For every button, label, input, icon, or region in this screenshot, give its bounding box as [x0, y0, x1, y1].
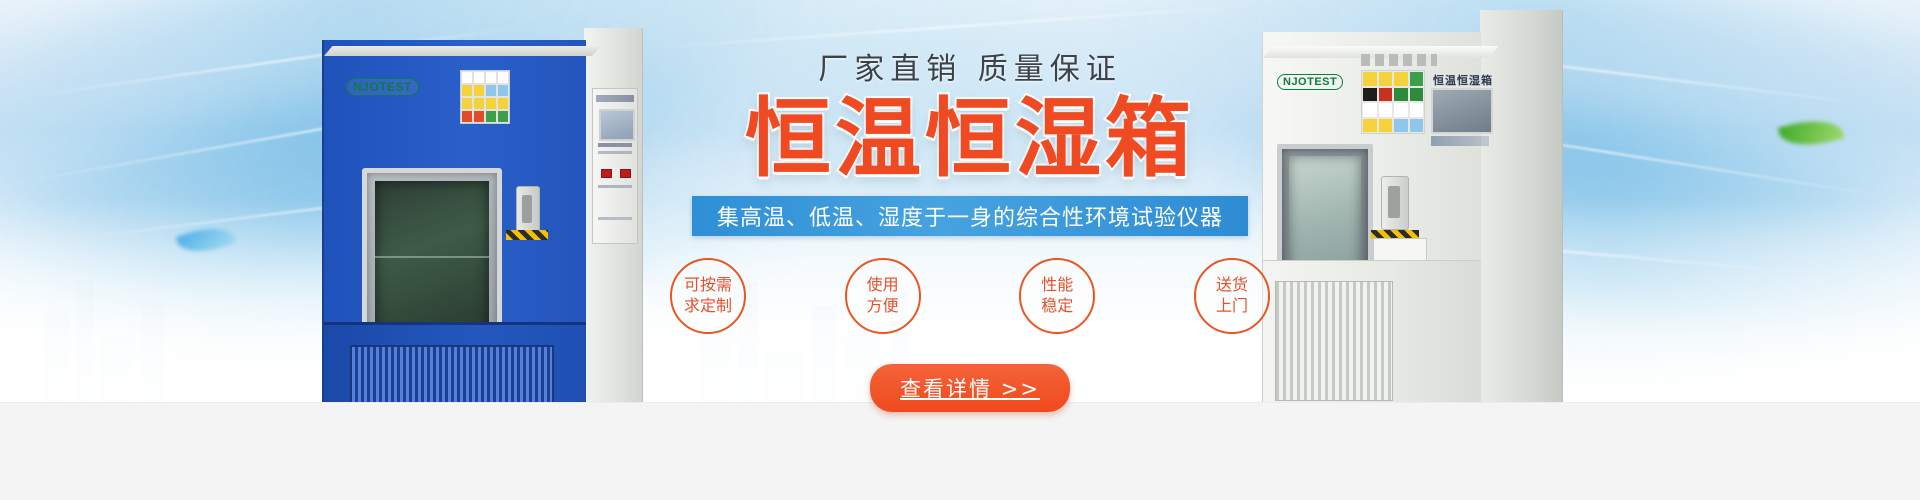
banner-subtitle-bar: 集高温、低温、湿度于一身的综合性环境试验仪器 — [692, 196, 1248, 236]
feature-badge-delivery[interactable]: 送货 上门 — [1194, 258, 1270, 334]
feature-badge-line2: 稳定 — [1041, 296, 1073, 316]
panel-company-text — [1431, 136, 1489, 146]
cta-container: 查看详情 >> — [660, 364, 1280, 412]
feature-badge-line1: 送货 — [1216, 275, 1248, 295]
panel-bar — [598, 151, 632, 154]
feature-badge-stable[interactable]: 性能 稳定 — [1019, 258, 1095, 334]
door-viewing-glass — [375, 181, 489, 345]
control-panel-label-right: 恒温恒湿箱 — [1433, 72, 1493, 88]
top-vents — [1361, 54, 1437, 66]
bottom-grey-strip — [0, 402, 1920, 500]
feature-badge-line1: 使用 — [867, 275, 899, 295]
panel-bar — [598, 217, 632, 220]
promo-banner: NJOTEST — [0, 0, 1920, 500]
control-panel-label-left — [596, 95, 634, 102]
hazard-stripe — [506, 230, 548, 240]
feature-badge-line1: 性能 — [1041, 275, 1073, 295]
feature-badge-line1: 可按需 — [684, 275, 732, 295]
feature-badge-list: 可按需 求定制 使用 方便 性能 稳定 送货 上门 — [670, 258, 1270, 334]
door-handle-right — [1381, 176, 1409, 230]
banner-tagline: 厂家直销 质量保证 — [660, 44, 1280, 88]
feature-badge-line2: 求定制 — [684, 296, 732, 316]
banner-headline: 恒温恒湿箱 — [660, 90, 1280, 190]
control-panel-left — [592, 88, 638, 244]
brand-logo-left: NJOTEST — [346, 78, 419, 96]
panel-bar — [598, 143, 632, 147]
feature-badge-easy-use[interactable]: 使用 方便 — [845, 258, 921, 334]
panel-bar — [598, 185, 632, 188]
feature-badge-custom[interactable]: 可按需 求定制 — [670, 258, 746, 334]
view-details-button[interactable]: 查看详情 >> — [870, 364, 1070, 412]
control-screen-left — [599, 109, 635, 141]
warning-label-right — [1361, 70, 1425, 134]
banner-copy-block: 厂家直销 质量保证 恒温恒湿箱 集高温、低温、湿度于一身的综合性环境试验仪器 可… — [660, 44, 1280, 412]
indicator-led — [620, 169, 631, 178]
warning-label-left — [460, 70, 510, 124]
indicator-led — [601, 169, 612, 178]
door-handle-left — [516, 186, 540, 234]
feature-badge-line2: 上门 — [1216, 296, 1248, 316]
ventilation-grille-right — [1275, 281, 1393, 401]
brand-logo-right: NJOTEST — [1277, 74, 1343, 90]
control-screen-right — [1431, 88, 1493, 134]
feature-badge-line2: 方便 — [867, 296, 899, 316]
chamber-top-edge — [324, 46, 600, 56]
